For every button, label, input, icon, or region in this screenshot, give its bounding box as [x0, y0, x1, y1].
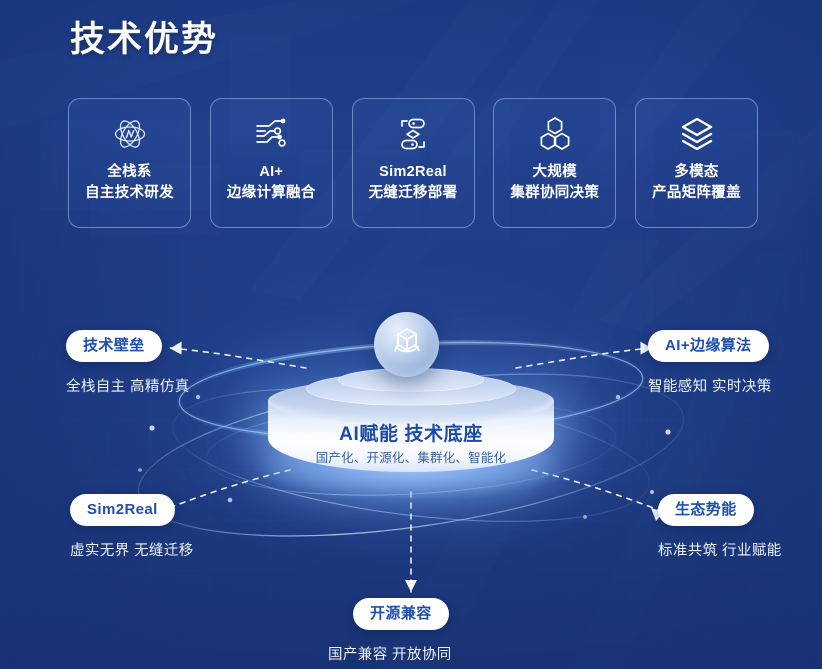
feature-card-title: 大规模	[533, 162, 577, 183]
feature-card-subtitle: 无缝迁移部署	[369, 183, 458, 204]
circuit-node-icon	[250, 113, 292, 155]
feature-card-subtitle: 产品矩阵覆盖	[652, 183, 741, 204]
node-description: 全栈自主 高精仿真	[66, 375, 190, 396]
feature-card-title: 全栈系	[107, 162, 151, 183]
hub-cube-badge[interactable]	[374, 312, 439, 377]
node-description: 国产兼容 开放协同	[328, 643, 452, 664]
node-label-pill: Sim2Real	[70, 494, 175, 526]
feature-card-multimodal[interactable]: 多模态 产品矩阵覆盖	[635, 98, 758, 228]
feature-card-title: Sim2Real	[379, 162, 447, 183]
hexagon-cluster-icon	[534, 113, 576, 155]
feature-card-full-stack[interactable]: 全栈系 自主技术研发	[68, 98, 191, 228]
feature-card-sim2real[interactable]: Sim2Real 无缝迁移部署	[352, 98, 475, 228]
atom-icon	[109, 113, 151, 155]
hub-title: AI赋能 技术底座	[254, 422, 568, 448]
diagram-node-opensource[interactable]: 开源兼容 国产兼容 开放协同	[350, 598, 452, 664]
node-label-pill: 生态势能	[658, 494, 754, 526]
sim-transfer-icon	[392, 113, 434, 155]
feature-card-subtitle: 自主技术研发	[85, 183, 174, 204]
node-label-pill: 技术壁垒	[66, 330, 162, 362]
feature-cards-row: 全栈系 自主技术研发 AI+ 边缘计算融合	[68, 98, 758, 228]
feature-card-subtitle: 边缘计算融合	[227, 183, 316, 204]
hub-subtitle: 国产化、开源化、集群化、智能化	[254, 450, 568, 467]
feature-card-title: 多模态	[674, 162, 718, 183]
feature-card-title: AI+	[259, 162, 283, 183]
diagram-node-tech-barrier[interactable]: 技术壁垒 全栈自主 高精仿真	[66, 330, 190, 396]
node-label-pill: 开源兼容	[353, 598, 449, 630]
layers-icon	[676, 113, 718, 155]
page-title: 技术优势	[70, 11, 218, 62]
diagram-node-ecosystem[interactable]: 生态势能 标准共筑 行业赋能	[658, 494, 782, 560]
hub-text-block: AI赋能 技术底座 国产化、开源化、集群化、智能化	[254, 422, 568, 467]
feature-card-subtitle: 集群协同决策	[510, 183, 599, 204]
diagram-node-ai-edge[interactable]: AI+边缘算法 智能感知 实时决策	[648, 330, 772, 396]
node-description: 智能感知 实时决策	[648, 375, 772, 396]
feature-card-ai-edge[interactable]: AI+ 边缘计算融合	[210, 98, 333, 228]
node-description: 虚实无界 无缝迁移	[70, 539, 194, 560]
diagram-node-sim2real[interactable]: Sim2Real 虚实无界 无缝迁移	[70, 494, 194, 560]
central-hub-platform: AI赋能 技术底座 国产化、开源化、集群化、智能化	[254, 358, 568, 488]
node-description: 标准共筑 行业赋能	[658, 539, 782, 560]
node-label-pill: AI+边缘算法	[648, 330, 769, 362]
feature-card-large-scale[interactable]: 大规模 集群协同决策	[493, 98, 616, 228]
cube-rotate-icon	[389, 324, 425, 365]
